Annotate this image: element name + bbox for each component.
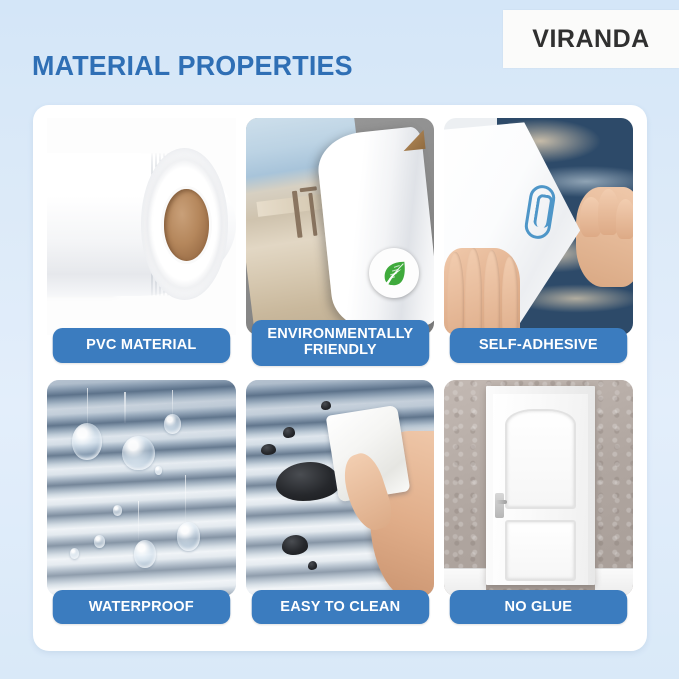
eco-wallpaper-image: [246, 118, 435, 335]
door-panel-top: [505, 409, 577, 508]
water-streak: [124, 392, 126, 422]
water-droplet: [72, 423, 102, 460]
door-handle: [495, 493, 503, 518]
easy-to-clean-image: [246, 380, 435, 597]
feature-caption-environmentally-friendly: ENVIRONMENTALLY FRIENDLY: [251, 320, 428, 365]
eco-curled-sheet: [315, 126, 435, 334]
feature-card-easy-to-clean[interactable]: EASY TO CLEAN: [246, 380, 435, 625]
water-streak: [87, 388, 89, 427]
waterproof-image: [47, 380, 236, 597]
dirt-stain: [282, 535, 308, 554]
feature-card-environmentally-friendly[interactable]: ENVIRONMENTALLY FRIENDLY: [246, 118, 435, 363]
no-glue-image: [444, 380, 633, 597]
water-streak: [138, 501, 140, 540]
water-droplet: [177, 522, 200, 550]
water-droplet: [134, 540, 157, 568]
pvc-roll-image: [47, 118, 236, 335]
dirt-stain: [283, 427, 294, 438]
water-streak: [185, 475, 187, 523]
water-droplet: [155, 466, 163, 475]
feature-caption-waterproof: WATERPROOF: [53, 590, 230, 624]
dirt-stain: [321, 401, 330, 410]
water-streak: [172, 390, 174, 416]
brand-logo: VIRANDA: [503, 10, 679, 68]
right-hand-peeling: [576, 187, 633, 287]
page-title: MATERIAL PROPERTIES: [32, 50, 353, 82]
self-adhesive-image: [444, 118, 633, 335]
feature-caption-easy-to-clean: EASY TO CLEAN: [251, 590, 428, 624]
feature-grid: PVC MATERIAL ENVIRONMENTALLY FRIEND: [47, 118, 633, 624]
brand-logo-text: VIRANDA: [532, 25, 649, 54]
door-leaf: [493, 394, 587, 585]
feature-card-waterproof[interactable]: WATERPROOF: [47, 380, 236, 625]
feature-caption-self-adhesive: SELF-ADHESIVE: [450, 328, 627, 362]
feature-caption-no-glue: NO GLUE: [450, 590, 627, 624]
door-panel-bottom: [505, 520, 577, 581]
feature-card-pvc-material[interactable]: PVC MATERIAL: [47, 118, 236, 363]
feature-card-no-glue[interactable]: NO GLUE: [444, 380, 633, 625]
water-droplet: [122, 436, 154, 471]
water-droplet: [164, 414, 181, 433]
water-droplet: [70, 548, 79, 559]
feature-caption-pvc-material: PVC MATERIAL: [53, 328, 230, 362]
roll-cardboard-core: [164, 189, 209, 260]
door-frame: [486, 386, 595, 585]
leaf-icon: [379, 258, 409, 288]
feature-card-self-adhesive[interactable]: SELF-ADHESIVE: [444, 118, 633, 363]
leaf-badge: [369, 248, 419, 298]
left-hand-holding: [444, 248, 519, 335]
